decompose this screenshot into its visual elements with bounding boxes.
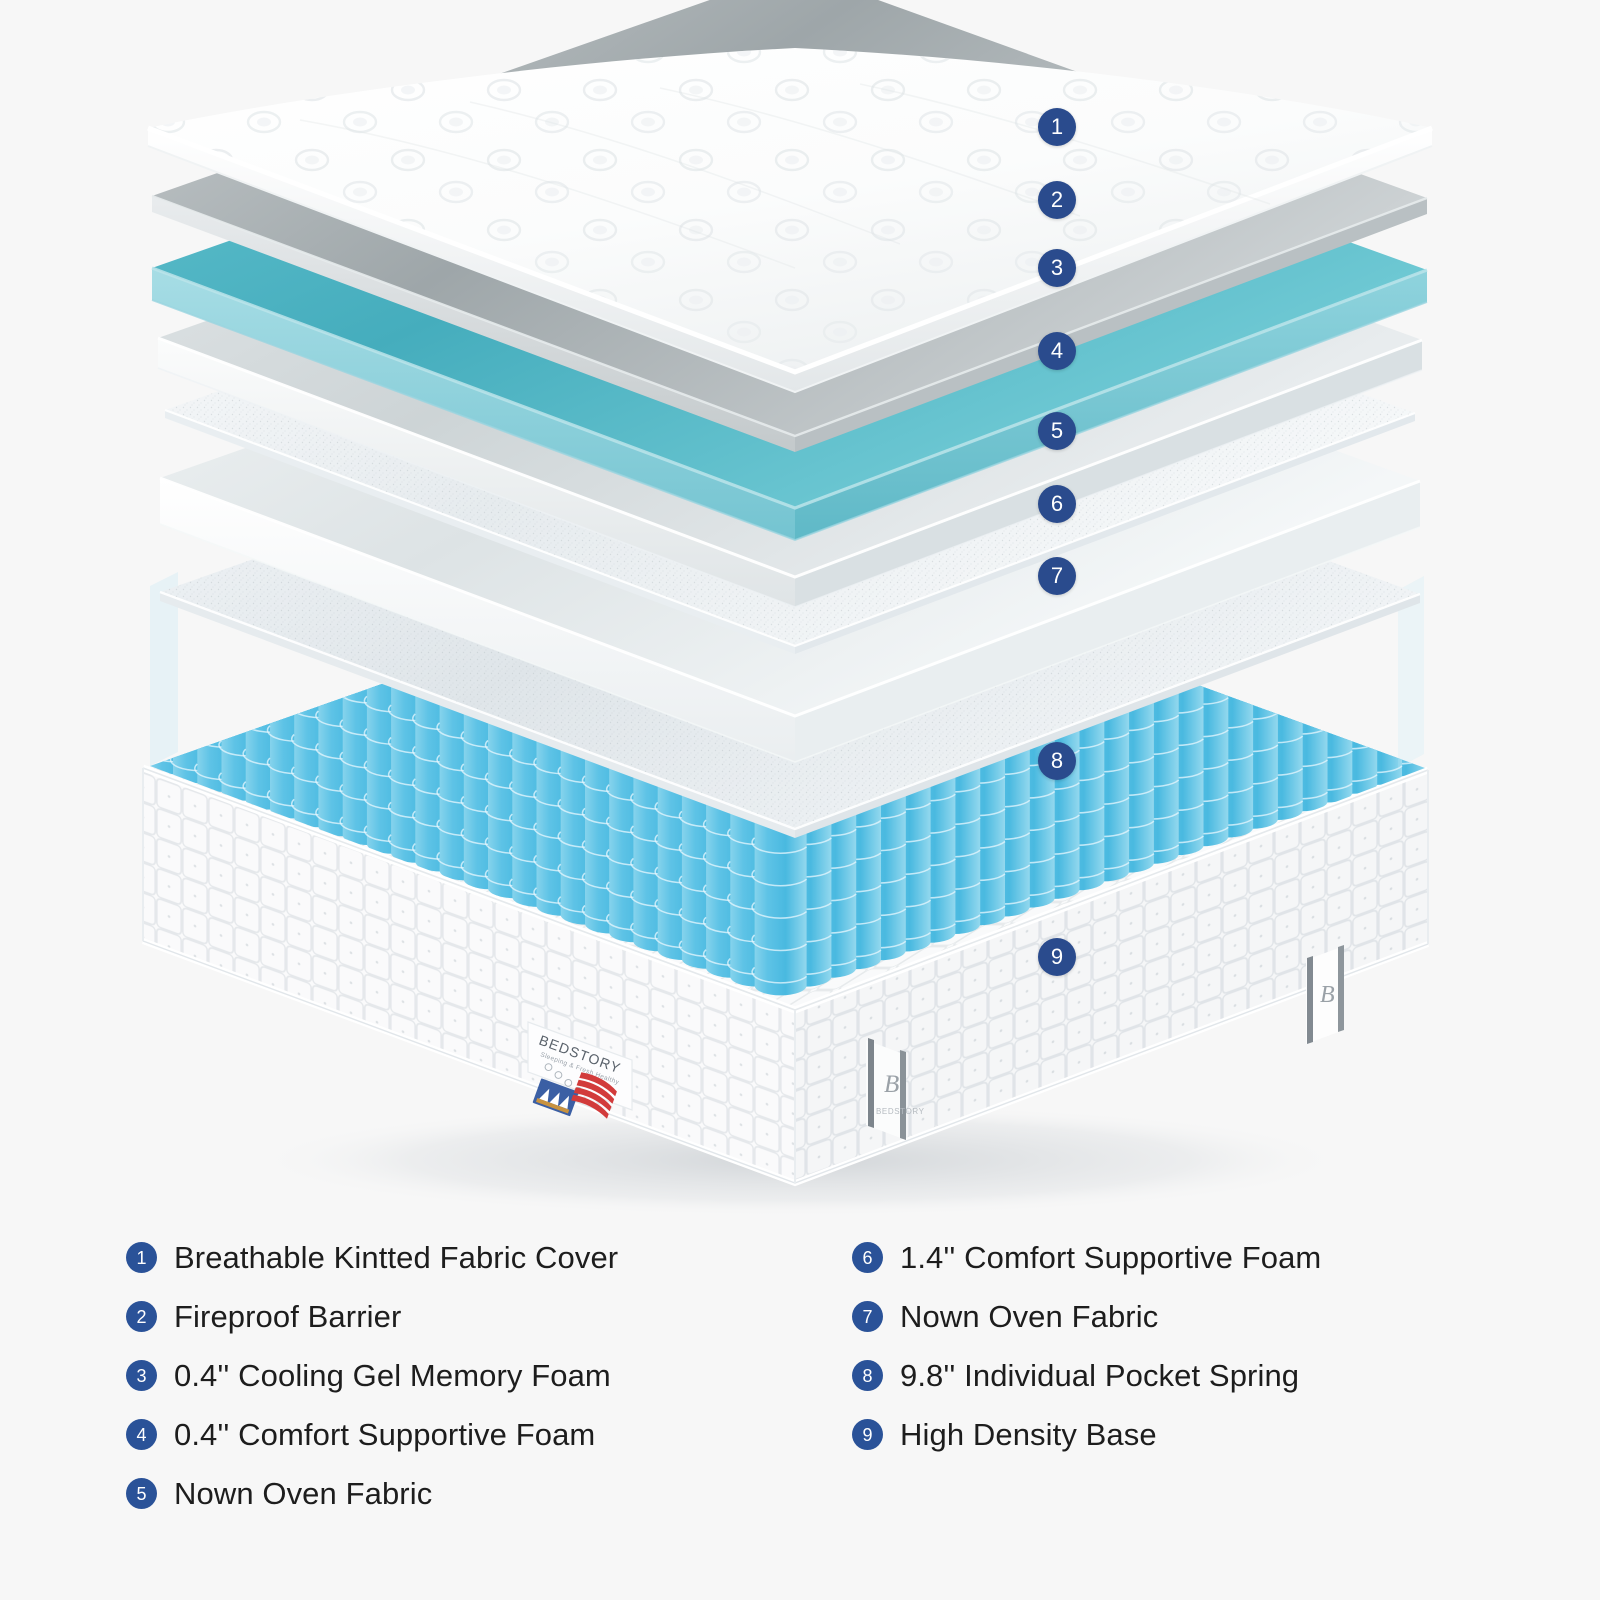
callout-badge-5[interactable]: 5 [1038, 412, 1076, 450]
callout-badge-3[interactable]: 3 [1038, 249, 1076, 287]
legend-label-8: 9.8'' Individual Pocket Spring [900, 1358, 1299, 1394]
mattress-layer-diagram-page: B BEDSTORY B BEDSTORY Sleeping & Fresh H… [0, 0, 1600, 1600]
legend-item-3[interactable]: 3 0.4'' Cooling Gel Memory Foam [126, 1346, 886, 1405]
legend-label-1: Breathable Kintted Fabric Cover [174, 1240, 618, 1276]
legend-item-9[interactable]: 9 High Density Base [852, 1405, 1552, 1464]
legend-label-6: 1.4'' Comfort Supportive Foam [900, 1240, 1321, 1276]
legend-column-right: 6 1.4'' Comfort Supportive Foam 7 Nown O… [852, 1228, 1552, 1464]
legend-badge-5: 5 [126, 1478, 157, 1509]
callout-badge-8[interactable]: 8 [1038, 742, 1076, 780]
mattress-handle-right: B [1306, 945, 1344, 1044]
legend-label-3: 0.4'' Cooling Gel Memory Foam [174, 1358, 611, 1394]
legend-badge-2: 2 [126, 1301, 157, 1332]
legend-item-2[interactable]: 2 Fireproof Barrier [126, 1287, 886, 1346]
legend-badge-9: 9 [852, 1419, 883, 1450]
callout-badge-1[interactable]: 1 [1038, 108, 1076, 146]
legend-item-4[interactable]: 4 0.4'' Comfort Supportive Foam [126, 1405, 886, 1464]
legend-label-7: Nown Oven Fabric [900, 1299, 1158, 1335]
legend-label-4: 0.4'' Comfort Supportive Foam [174, 1417, 595, 1453]
callout-badge-9[interactable]: 9 [1038, 938, 1076, 976]
callout-badge-6[interactable]: 6 [1038, 485, 1076, 523]
legend-column-left: 1 Breathable Kintted Fabric Cover 2 Fire… [126, 1228, 886, 1523]
legend-badge-7: 7 [852, 1301, 883, 1332]
legend-item-1[interactable]: 1 Breathable Kintted Fabric Cover [126, 1228, 886, 1287]
legend-badge-4: 4 [126, 1419, 157, 1450]
legend-badge-1: 1 [126, 1242, 157, 1273]
callout-badge-7[interactable]: 7 [1038, 557, 1076, 595]
legend-label-9: High Density Base [900, 1417, 1157, 1453]
legend-badge-6: 6 [852, 1242, 883, 1273]
svg-text:BEDSTORY: BEDSTORY [876, 1107, 925, 1116]
svg-text:B: B [884, 1071, 899, 1098]
layer-legend: 1 Breathable Kintted Fabric Cover 2 Fire… [0, 1228, 1600, 1600]
legend-badge-8: 8 [852, 1360, 883, 1391]
svg-text:B: B [1320, 982, 1335, 1008]
callout-badge-2[interactable]: 2 [1038, 181, 1076, 219]
legend-item-5[interactable]: 5 Nown Oven Fabric [126, 1464, 886, 1523]
legend-item-8[interactable]: 8 9.8'' Individual Pocket Spring [852, 1346, 1552, 1405]
callout-badge-4[interactable]: 4 [1038, 332, 1076, 370]
legend-label-2: Fireproof Barrier [174, 1299, 401, 1335]
legend-item-7[interactable]: 7 Nown Oven Fabric [852, 1287, 1552, 1346]
exploded-mattress-illustration: B BEDSTORY B BEDSTORY Sleeping & Fresh H… [0, 0, 1600, 1215]
legend-badge-3: 3 [126, 1360, 157, 1391]
legend-item-6[interactable]: 6 1.4'' Comfort Supportive Foam [852, 1228, 1552, 1287]
legend-label-5: Nown Oven Fabric [174, 1476, 432, 1512]
